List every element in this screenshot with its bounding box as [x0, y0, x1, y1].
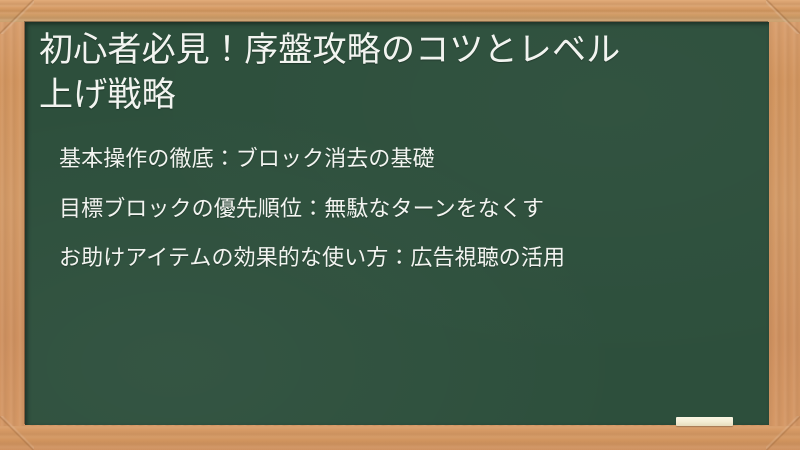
- page-title-line-2: 上げ戦略: [39, 75, 176, 115]
- page-title-line-1: 初心者必見！序盤攻略のコツとレベル: [39, 30, 620, 70]
- chalkboard-surface: 初心者必見！序盤攻略のコツとレベル上げ戦略 基本操作の徹底：ブロック消去の基礎 …: [25, 22, 769, 425]
- slide-content: 初心者必見！序盤攻略のコツとレベル上げ戦略 基本操作の徹底：ブロック消去の基礎 …: [25, 22, 769, 274]
- bullet-list: 基本操作の徹底：ブロック消去の基礎 目標ブロックの優先順位：無駄なターンをなくす…: [33, 144, 743, 274]
- page-title: 初心者必見！序盤攻略のコツとレベル上げ戦略: [33, 28, 743, 118]
- list-item: お助けアイテムの効果的な使い方：広告視聴の活用: [59, 243, 739, 274]
- list-item: 目標ブロックの優先順位：無駄なターンをなくす: [59, 194, 739, 225]
- chalk-stick-icon: [676, 417, 733, 426]
- chalkboard-slide: 初心者必見！序盤攻略のコツとレベル上げ戦略 基本操作の徹底：ブロック消去の基礎 …: [0, 0, 800, 450]
- list-item: 基本操作の徹底：ブロック消去の基礎: [59, 144, 739, 175]
